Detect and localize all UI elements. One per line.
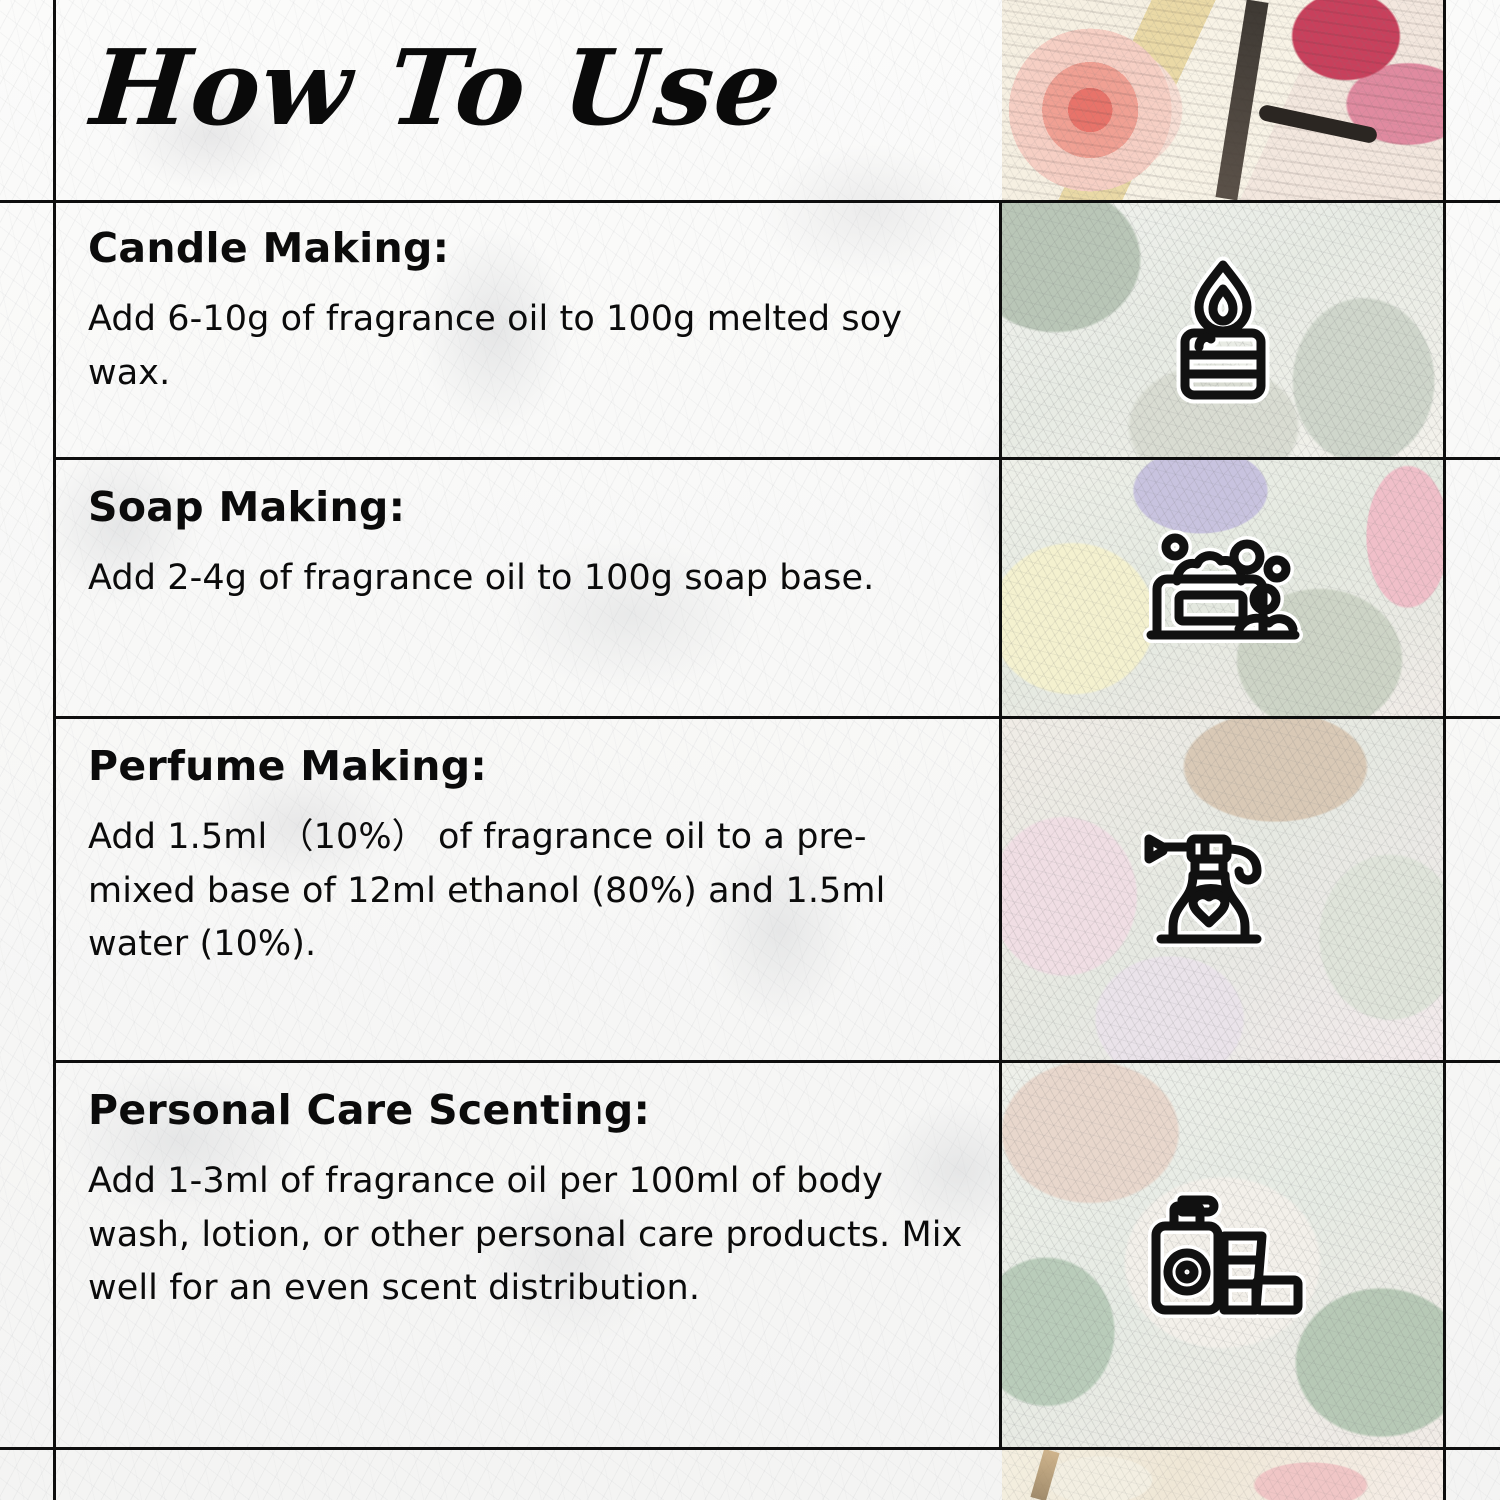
section-perfume-making: Perfume Making: Add 1.5ml （10%） of fragr… bbox=[88, 744, 968, 972]
page-title: How To Use bbox=[87, 36, 786, 140]
section-body: Add 1.5ml （10%） of fragrance oil to a pr… bbox=[88, 811, 968, 972]
section-title: Perfume Making: bbox=[88, 744, 968, 789]
lotion-bottle-icon bbox=[1002, 1063, 1443, 1447]
how-to-use-infographic: How To Use Candle Making: Add 6-10g of f… bbox=[0, 0, 1500, 1500]
section-body: Add 6-10g of fragrance oil to 100g melte… bbox=[88, 293, 968, 400]
section-personal-care-scenting: Personal Care Scenting: Add 1-3ml of fra… bbox=[88, 1088, 968, 1316]
candle-icon bbox=[1002, 203, 1443, 457]
footer-rose-illustration bbox=[1002, 1450, 1443, 1500]
section-body: Add 1-3ml of fragrance oil per 100ml of … bbox=[88, 1155, 968, 1316]
section-candle-making: Candle Making: Add 6-10g of fragrance oi… bbox=[88, 226, 968, 400]
soap-image-cell bbox=[1002, 460, 1443, 716]
header-rose-illustration bbox=[1002, 0, 1443, 200]
candle-image-cell bbox=[1002, 203, 1443, 457]
perfume-image-cell bbox=[1002, 719, 1443, 1060]
soap-bar-icon bbox=[1002, 460, 1443, 716]
section-body: Add 2-4g of fragrance oil to 100g soap b… bbox=[88, 552, 968, 606]
rule-left-margin bbox=[53, 0, 56, 1500]
section-title: Soap Making: bbox=[88, 485, 968, 530]
personal-care-image-cell bbox=[1002, 1063, 1443, 1447]
perfume-bottle-icon bbox=[1002, 719, 1443, 1060]
section-soap-making: Soap Making: Add 2-4g of fragrance oil t… bbox=[88, 485, 968, 606]
section-title: Candle Making: bbox=[88, 226, 968, 271]
section-title: Personal Care Scenting: bbox=[88, 1088, 968, 1133]
rule-right-margin bbox=[1443, 0, 1446, 1500]
